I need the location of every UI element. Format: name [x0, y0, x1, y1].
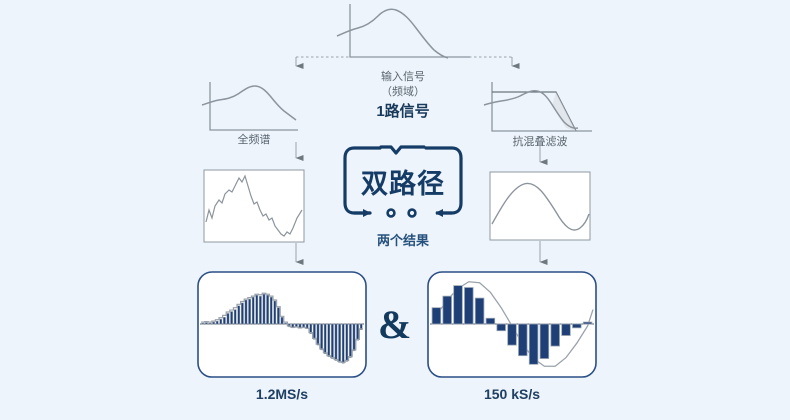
label-full-spectrum: 全频谱 [206, 131, 302, 147]
ampersand-symbol: & [378, 301, 411, 348]
center-bracket-dots [388, 210, 416, 217]
sample-bar [256, 295, 258, 324]
sample-bar [252, 297, 254, 324]
sample-bar [454, 286, 463, 324]
sample-bar [238, 306, 240, 324]
sample-bar [216, 321, 218, 324]
chart-input-signal [337, 4, 470, 58]
label-two-results: 两个结果 [348, 230, 458, 249]
sample-bar [266, 295, 268, 324]
card-low-rate-samples [428, 272, 596, 377]
sample-bar [518, 324, 527, 356]
sample-bar [248, 299, 250, 324]
sample-bar [346, 324, 348, 361]
sample-bar [241, 303, 243, 324]
sample-bar [328, 324, 330, 357]
sample-bar [356, 324, 358, 340]
sample-bar [572, 324, 581, 328]
sample-bar [212, 322, 214, 324]
sample-bar [234, 310, 236, 324]
label-antialias-filter: 抗混叠滤波 [490, 133, 590, 149]
sample-bar [259, 296, 261, 324]
sample-bar [432, 308, 441, 324]
label-one-path-signal: 1路信号 [348, 100, 458, 121]
sample-bar [320, 324, 322, 350]
sample-bar [443, 296, 452, 324]
sample-bar [562, 324, 571, 336]
sample-bar [245, 300, 247, 324]
sample-bar [464, 288, 473, 324]
center-badge-label: 双路径 [348, 162, 458, 201]
sample-bar [349, 324, 351, 358]
sample-bar [335, 324, 337, 360]
sample-bar [475, 298, 484, 324]
sample-bar [205, 323, 207, 324]
label-rate-high: 1.2MS/s [222, 386, 342, 402]
sample-bar [284, 323, 286, 324]
sample-bar [540, 324, 549, 359]
sample-bar [270, 297, 272, 324]
sample-bar [223, 317, 225, 324]
sample-bar [274, 301, 276, 324]
center-bracket-notch [381, 147, 424, 153]
sample-bar [331, 324, 333, 359]
label-rate-low: 150 kS/s [452, 386, 572, 402]
sample-bar [317, 324, 319, 345]
sample-bar [227, 313, 229, 324]
sample-bar [220, 319, 222, 324]
sample-bar [497, 324, 506, 331]
sample-bar [281, 317, 283, 324]
card-high-rate-samples [198, 272, 366, 377]
branch-connector-verticals [296, 57, 512, 66]
box-antialias-sine [490, 172, 590, 240]
diagram-canvas: 输入信号 （频域） 1路信号 全频谱 抗混叠滤波 双路径 两个结果 & 1.2M… [0, 0, 790, 420]
sample-bar [342, 324, 344, 363]
box-full-spectrum-waveform [204, 170, 304, 242]
sample-bar [353, 324, 355, 351]
sample-bar [263, 294, 265, 324]
sample-bar [529, 324, 538, 364]
sample-bar [209, 323, 211, 324]
sample-bar [583, 322, 592, 324]
sample-bar [508, 324, 517, 345]
sample-bar [486, 318, 495, 324]
sample-bar [551, 324, 560, 346]
connector-layer [0, 0, 790, 420]
chart-full-spectrum [202, 82, 298, 130]
label-input-signal-domain: （频域） [348, 83, 458, 99]
sample-bar [202, 323, 204, 324]
label-input-signal: 输入信号 [348, 68, 458, 84]
sample-bar [338, 324, 340, 362]
sample-bar [313, 324, 315, 339]
sample-bar [324, 324, 326, 354]
sample-bar [277, 308, 279, 324]
chart-antialias-filter [484, 82, 592, 131]
sample-bar [230, 312, 232, 324]
